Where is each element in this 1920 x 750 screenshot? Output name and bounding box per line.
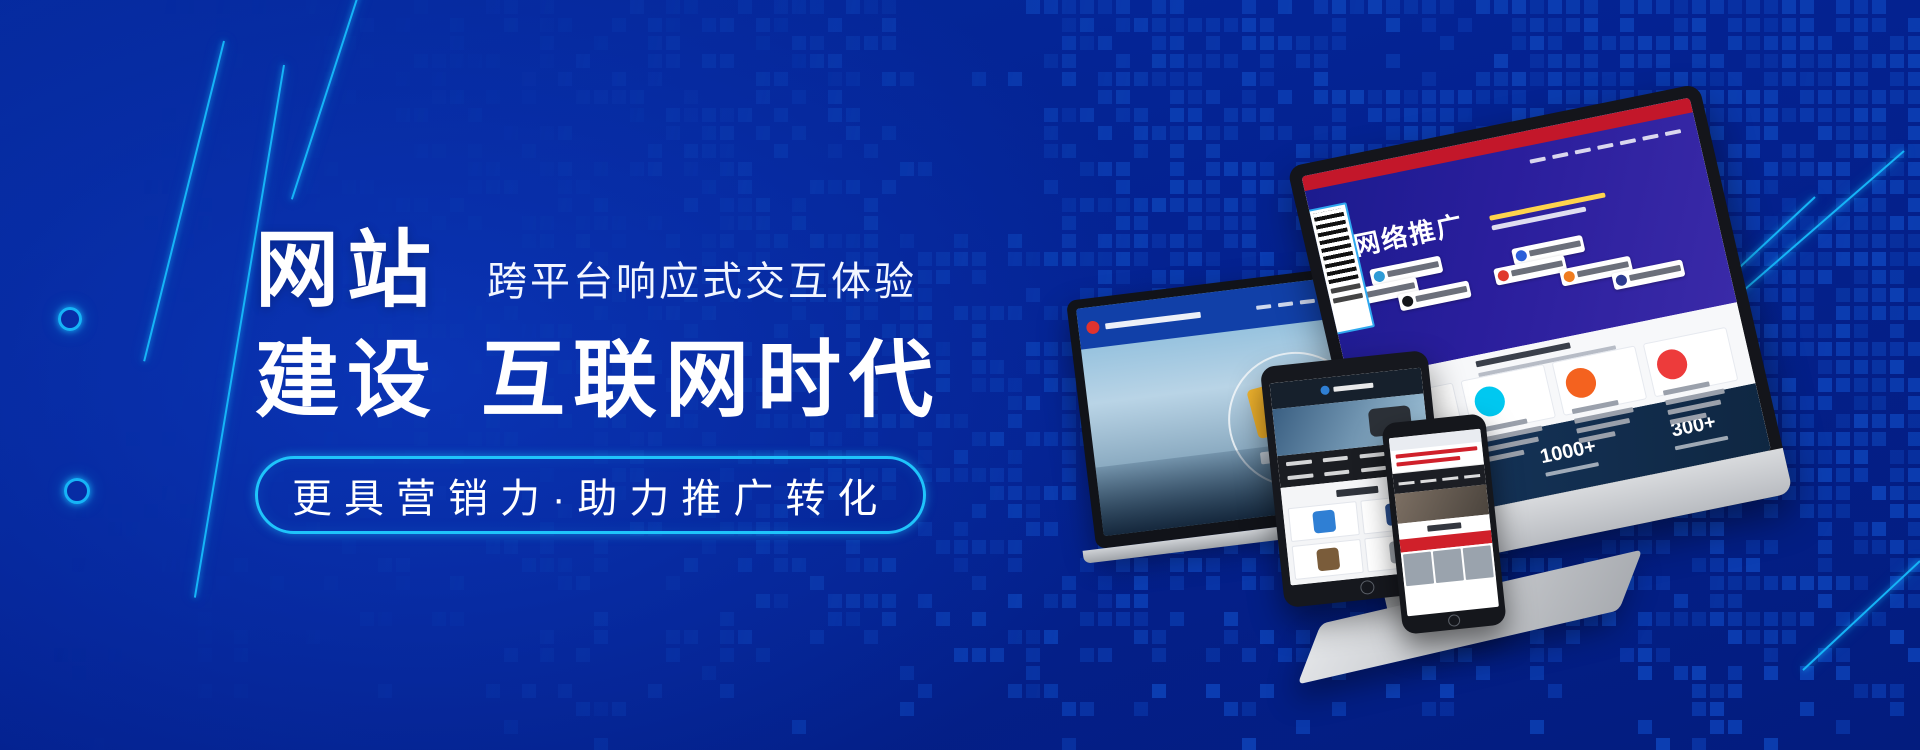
map-pixel [324, 54, 338, 68]
map-pixel [1026, 0, 1040, 14]
map-pixel [1890, 144, 1904, 158]
map-pixel [1728, 0, 1742, 14]
map-pixel [828, 72, 842, 86]
map-pixel [90, 198, 104, 212]
badge-label [1529, 241, 1581, 257]
map-pixel [756, 198, 770, 212]
map-pixel [1296, 54, 1310, 68]
map-pixel [972, 72, 986, 86]
map-pixel [846, 612, 860, 626]
map-pixel [1782, 18, 1796, 32]
map-pixel [72, 306, 86, 320]
map-pixel [1440, 90, 1454, 104]
map-pixel [900, 702, 914, 716]
map-pixel [684, 0, 698, 14]
qr-caption [1333, 292, 1364, 303]
map-pixel [1890, 252, 1904, 266]
map-pixel [1854, 468, 1868, 482]
map-pixel [810, 180, 824, 194]
map-pixel [684, 162, 698, 176]
map-pixel [522, 144, 536, 158]
badge-label [1511, 261, 1563, 277]
map-pixel [1854, 324, 1868, 338]
map-pixel [1854, 396, 1868, 410]
map-pixel [180, 558, 194, 572]
service-card-icon [1563, 365, 1599, 400]
headline-line-1: 网站 [255, 228, 439, 312]
map-pixel [108, 126, 122, 140]
map-pixel [324, 36, 338, 50]
map-pixel [882, 72, 896, 86]
map-pixel [1908, 342, 1920, 356]
map-pixel [900, 666, 914, 680]
map-pixel [1800, 702, 1814, 716]
map-pixel [1548, 18, 1562, 32]
product-thumb [1312, 510, 1336, 534]
map-pixel [450, 90, 464, 104]
map-pixel [1620, 18, 1634, 32]
map-pixel [846, 108, 860, 122]
map-pixel [1620, 72, 1634, 86]
map-pixel [1908, 306, 1920, 320]
map-pixel [828, 180, 842, 194]
map-pixel [1638, 666, 1652, 680]
map-pixel [1044, 108, 1058, 122]
map-pixel [918, 162, 932, 176]
map-pixel [864, 630, 878, 644]
map-pixel [738, 162, 752, 176]
map-pixel [432, 612, 446, 626]
map-pixel [126, 432, 140, 446]
map-pixel [432, 144, 446, 158]
map-pixel [882, 558, 896, 572]
map-pixel [1242, 648, 1256, 662]
map-pixel [900, 72, 914, 86]
map-pixel [252, 0, 266, 14]
thumb [1463, 545, 1494, 580]
map-pixel [0, 360, 14, 374]
map-pixel [558, 198, 572, 212]
map-pixel [1746, 0, 1760, 14]
map-pixel [1908, 18, 1920, 32]
map-pixel [1512, 90, 1526, 104]
map-pixel [756, 36, 770, 50]
map-pixel [594, 738, 608, 750]
service-card [1643, 326, 1739, 397]
phone-home-button[interactable] [1448, 614, 1461, 627]
map-pixel [180, 0, 194, 14]
map-pixel [1008, 540, 1022, 554]
map-pixel [972, 648, 986, 662]
map-pixel [1458, 90, 1472, 104]
map-pixel [540, 540, 554, 554]
map-pixel [432, 54, 446, 68]
map-pixel [1584, 54, 1598, 68]
map-pixel [1152, 0, 1166, 14]
map-pixel [756, 90, 770, 104]
map-pixel [1584, 90, 1598, 104]
map-pixel [1170, 90, 1184, 104]
map-pixel [630, 108, 644, 122]
map-pixel [1188, 72, 1202, 86]
nav-item [1620, 139, 1637, 146]
map-pixel [396, 72, 410, 86]
map-pixel [360, 612, 374, 626]
map-pixel [774, 594, 788, 608]
map-pixel [216, 144, 230, 158]
map-pixel [1008, 684, 1022, 698]
map-pixel [1332, 36, 1346, 50]
map-pixel [954, 558, 968, 572]
map-pixel [1044, 0, 1058, 14]
map-pixel [630, 90, 644, 104]
map-pixel [198, 576, 212, 590]
map-pixel [1548, 648, 1562, 662]
map-pixel [1872, 432, 1886, 446]
map-pixel [1584, 72, 1598, 86]
map-pixel [1872, 90, 1886, 104]
map-pixel [468, 54, 482, 68]
map-pixel [252, 108, 266, 122]
map-pixel [1260, 72, 1274, 86]
map-pixel [198, 108, 212, 122]
map-pixel [846, 180, 860, 194]
map-pixel [972, 576, 986, 590]
map-pixel [180, 90, 194, 104]
map-pixel [1854, 450, 1868, 464]
map-pixel [1260, 36, 1274, 50]
map-pixel [234, 630, 248, 644]
map-pixel [720, 108, 734, 122]
map-pixel [594, 198, 608, 212]
map-pixel [1512, 0, 1526, 14]
map-pixel [594, 36, 608, 50]
map-pixel [522, 684, 536, 698]
map-pixel [810, 36, 824, 50]
badge-label [1629, 265, 1681, 281]
map-pixel [882, 180, 896, 194]
map-pixel [1602, 72, 1616, 86]
map-pixel [702, 18, 716, 32]
map-pixel [882, 126, 896, 140]
map-pixel [1890, 468, 1904, 482]
map-pixel [306, 108, 320, 122]
map-pixel [1908, 216, 1920, 230]
map-pixel [1116, 0, 1130, 14]
map-pixel [72, 414, 86, 428]
map-pixel [792, 90, 806, 104]
map-pixel [1908, 252, 1920, 266]
map-pixel [1800, 90, 1814, 104]
map-pixel [540, 558, 554, 572]
map-pixel [1062, 108, 1076, 122]
map-pixel [1890, 162, 1904, 176]
map-pixel [1764, 72, 1778, 86]
map-pixel [936, 612, 950, 626]
map-pixel [1620, 54, 1634, 68]
map-pixel [1062, 144, 1076, 158]
thumb [1403, 551, 1434, 586]
map-pixel [1206, 648, 1220, 662]
map-pixel [1134, 702, 1148, 716]
map-pixel [1908, 450, 1920, 464]
map-pixel [468, 162, 482, 176]
map-pixel [594, 630, 608, 644]
map-pixel [378, 558, 392, 572]
map-pixel [1890, 540, 1904, 554]
map-pixel [414, 54, 428, 68]
map-pixel [1080, 36, 1094, 50]
map-pixel [846, 126, 860, 140]
map-pixel [1566, 0, 1580, 14]
map-pixel [414, 0, 428, 14]
map-pixel [1800, 72, 1814, 86]
map-pixel [612, 702, 626, 716]
tagline-pill: 更具营销力·助力推广转化 [255, 456, 926, 534]
map-pixel [576, 54, 590, 68]
map-pixel [702, 144, 716, 158]
tablet-home-button[interactable] [1360, 580, 1375, 595]
map-pixel [810, 630, 824, 644]
map-pixel [612, 18, 626, 32]
map-pixel [1764, 648, 1778, 662]
map-pixel [270, 576, 284, 590]
map-pixel [1584, 36, 1598, 50]
map-pixel [144, 504, 158, 518]
map-pixel [1170, 72, 1184, 86]
map-pixel [1062, 702, 1076, 716]
map-pixel [1530, 720, 1544, 734]
map-pixel [126, 522, 140, 536]
map-pixel [648, 36, 662, 50]
map-pixel [1656, 738, 1670, 750]
map-pixel [180, 396, 194, 410]
map-pixel [1548, 0, 1562, 14]
map-pixel [1026, 684, 1040, 698]
map-pixel [198, 126, 212, 140]
badge-label [1387, 261, 1439, 277]
map-pixel [1422, 18, 1436, 32]
map-pixel [234, 270, 248, 284]
map-pixel [882, 18, 896, 32]
map-pixel [1098, 0, 1112, 14]
map-pixel [72, 504, 86, 518]
map-pixel [1386, 0, 1400, 14]
map-pixel [234, 648, 248, 662]
map-pixel [1278, 90, 1292, 104]
map-pixel [774, 540, 788, 554]
map-pixel [612, 90, 626, 104]
map-pixel [1188, 90, 1202, 104]
map-pixel [1854, 270, 1868, 284]
map-pixel [1800, 54, 1814, 68]
map-pixel [36, 90, 50, 104]
map-pixel [1764, 0, 1778, 14]
product-tile [1288, 501, 1360, 542]
map-pixel [1260, 18, 1274, 32]
map-pixel [1530, 18, 1544, 32]
map-pixel [1368, 0, 1382, 14]
map-pixel [1620, 0, 1634, 14]
map-pixel [1134, 72, 1148, 86]
neon-line [291, 0, 367, 200]
map-pixel [144, 216, 158, 230]
map-pixel [1062, 198, 1076, 212]
map-pixel [900, 162, 914, 176]
headline-row-1: 网站 跨平台响应式交互体验 [255, 228, 1075, 312]
map-pixel [1854, 432, 1868, 446]
map-pixel [1044, 180, 1058, 194]
map-pixel [1800, 666, 1814, 680]
map-pixel [594, 162, 608, 176]
map-pixel [1746, 54, 1760, 68]
map-pixel [864, 198, 878, 212]
map-pixel [1872, 378, 1886, 392]
map-pixel [108, 504, 122, 518]
map-pixel [324, 576, 338, 590]
site-stat: 1000+ [1538, 436, 1600, 476]
headline-row-2: 建设 互联网时代 [255, 338, 1075, 422]
map-pixel [1080, 18, 1094, 32]
map-pixel [1692, 54, 1706, 68]
map-pixel [846, 540, 860, 554]
map-pixel [1908, 234, 1920, 248]
map-pixel [558, 72, 572, 86]
map-pixel [1098, 648, 1112, 662]
hero-copy: 网站 跨平台响应式交互体验 建设 互联网时代 更具营销力·助力推广转化 [255, 228, 1075, 534]
map-pixel [1800, 0, 1814, 14]
map-pixel [1908, 522, 1920, 536]
map-pixel [1476, 90, 1490, 104]
map-pixel [1710, 702, 1724, 716]
map-pixel [1854, 54, 1868, 68]
map-pixel [648, 54, 662, 68]
map-pixel [72, 666, 86, 680]
map-pixel [864, 594, 878, 608]
map-pixel [1494, 0, 1508, 14]
map-pixel [1530, 36, 1544, 50]
map-pixel [1836, 720, 1850, 734]
map-pixel [270, 126, 284, 140]
map-pixel [1638, 36, 1652, 50]
map-pixel [144, 324, 158, 338]
map-pixel [108, 36, 122, 50]
map-pixel [1890, 378, 1904, 392]
map-pixel [396, 108, 410, 122]
nav-item [1359, 452, 1385, 459]
map-pixel [702, 126, 716, 140]
map-pixel [846, 72, 860, 86]
map-pixel [432, 90, 446, 104]
map-pixel [720, 18, 734, 32]
nav-item [1420, 478, 1436, 483]
map-pixel [1530, 666, 1544, 680]
map-pixel [1296, 36, 1310, 50]
map-pixel [162, 288, 176, 302]
map-pixel [234, 684, 248, 698]
nav-item [1642, 134, 1659, 141]
device-mockup-cluster: 网络推广 [1080, 120, 1840, 640]
map-pixel [1908, 558, 1920, 572]
map-pixel [180, 234, 194, 248]
map-pixel [1332, 90, 1346, 104]
map-pixel [72, 648, 86, 662]
map-pixel [738, 108, 752, 122]
map-pixel [1818, 36, 1832, 50]
map-pixel [648, 684, 662, 698]
map-pixel [1872, 360, 1886, 374]
map-pixel [1872, 198, 1886, 212]
map-pixel [486, 54, 500, 68]
map-pixel [1854, 288, 1868, 302]
map-pixel [450, 612, 464, 626]
map-pixel [1116, 18, 1130, 32]
map-pixel [954, 540, 968, 554]
map-pixel [1728, 90, 1742, 104]
map-pixel [216, 378, 230, 392]
map-pixel [828, 90, 842, 104]
nav-item [1552, 152, 1569, 159]
map-pixel [1566, 72, 1580, 86]
map-pixel [1116, 54, 1130, 68]
map-pixel [1908, 414, 1920, 428]
map-pixel [1422, 90, 1436, 104]
map-pixel [1440, 702, 1454, 716]
map-pixel [1872, 162, 1886, 176]
map-pixel [1404, 0, 1418, 14]
map-pixel [1638, 54, 1652, 68]
map-pixel [1638, 648, 1652, 662]
map-pixel [72, 126, 86, 140]
map-pixel [1188, 18, 1202, 32]
map-pixel [1692, 684, 1706, 698]
map-pixel [1080, 0, 1094, 14]
map-pixel [1908, 144, 1920, 158]
map-pixel [1818, 72, 1832, 86]
map-pixel [738, 630, 752, 644]
map-pixel [1404, 90, 1418, 104]
map-pixel [0, 72, 14, 86]
map-pixel [1062, 54, 1076, 68]
map-pixel [666, 54, 680, 68]
map-pixel [1890, 702, 1904, 716]
map-pixel [126, 0, 140, 14]
map-pixel [1890, 342, 1904, 356]
map-pixel [306, 198, 320, 212]
tablet-site-company-name [1333, 383, 1373, 392]
map-pixel [54, 432, 68, 446]
map-pixel [702, 666, 716, 680]
map-pixel [1314, 72, 1328, 86]
product-thumb [1316, 547, 1340, 571]
map-pixel [1908, 378, 1920, 392]
map-pixel [378, 612, 392, 626]
map-pixel [558, 18, 572, 32]
map-pixel [1044, 54, 1058, 68]
map-pixel [1206, 18, 1220, 32]
map-pixel [468, 180, 482, 194]
map-pixel [1890, 216, 1904, 230]
map-pixel [1872, 126, 1886, 140]
map-pixel [1854, 342, 1868, 356]
map-pixel [1152, 36, 1166, 50]
map-pixel [1548, 36, 1562, 50]
map-pixel [1116, 72, 1130, 86]
map-pixel [432, 72, 446, 86]
map-pixel [792, 36, 806, 50]
tagline-wrapper: 更具营销力·助力推广转化 [255, 456, 1075, 534]
map-pixel [1890, 414, 1904, 428]
